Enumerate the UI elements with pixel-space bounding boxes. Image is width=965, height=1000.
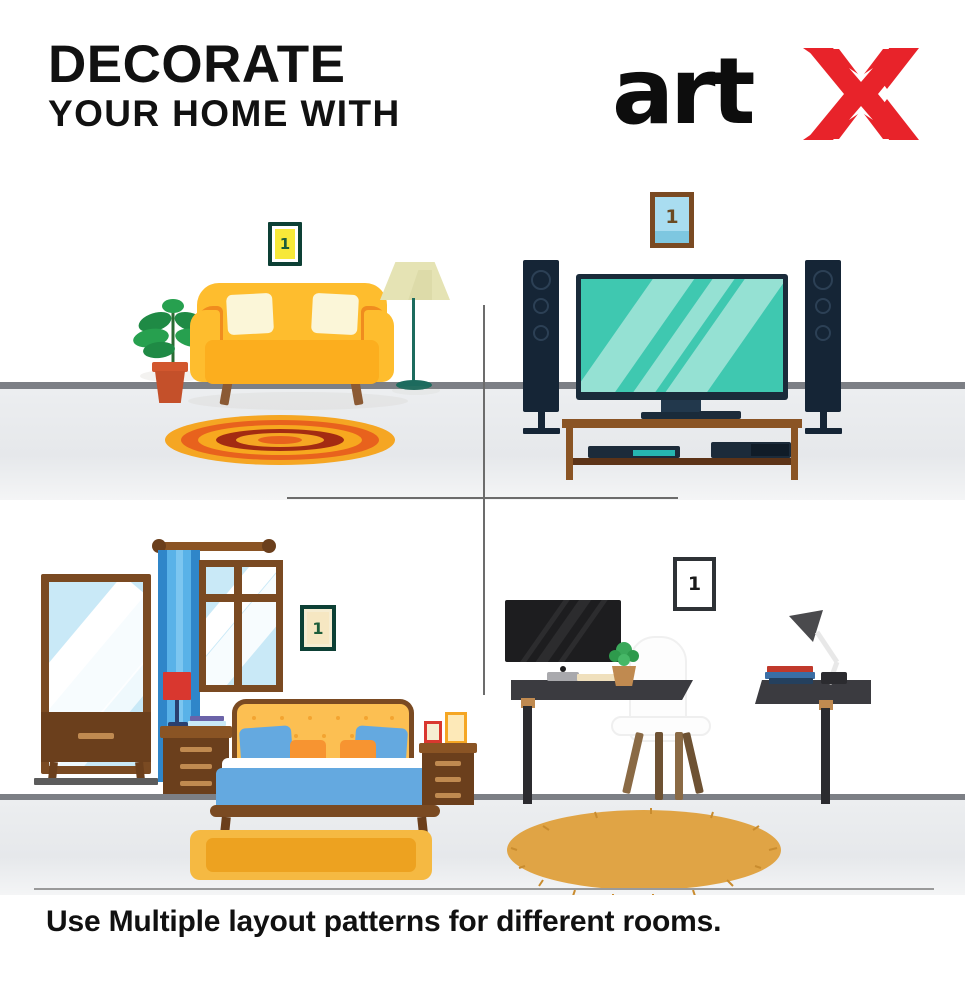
plant-pot — [612, 666, 636, 686]
bed-frame — [210, 805, 440, 817]
bottom-rule — [34, 888, 934, 890]
lamp-shade-red — [163, 672, 191, 700]
desk-top-left — [511, 680, 693, 700]
scene-home-office: 1 — [483, 500, 965, 895]
frame-number: 1 — [673, 557, 716, 611]
caption-text: Use Multiple layout patterns for differe… — [46, 905, 721, 939]
console-shelf — [573, 458, 791, 465]
plant-icon — [607, 638, 641, 670]
chair-leg — [655, 732, 663, 800]
tv-screen — [581, 279, 783, 392]
chair-leg — [675, 732, 683, 800]
drawer-handle — [78, 733, 114, 739]
monitor-screen — [505, 600, 621, 662]
scene-living-room: 1 — [0, 170, 483, 500]
desk-box — [821, 672, 847, 684]
sofa-seat — [205, 340, 379, 384]
desk-leg — [821, 708, 830, 804]
wall-frame-office[interactable]: 1 — [673, 557, 716, 611]
device-soundbar — [699, 411, 741, 419]
console-top — [562, 419, 802, 428]
headline-line-1: DECORATE — [48, 38, 401, 91]
lamp-pole — [412, 298, 415, 386]
scene-bedroom: 1 — [0, 500, 483, 895]
sofa-pillow-right — [311, 293, 359, 335]
headline-line-2: YOUR HOME WITH — [48, 95, 401, 132]
logo-x-icon — [797, 46, 925, 142]
frame-number: 1 — [268, 222, 302, 266]
sofa-pillow-left — [226, 293, 274, 335]
desk-leg — [523, 706, 532, 804]
poster-header: DECORATE YOUR HOME WITH art — [0, 0, 965, 170]
bed-blanket — [216, 768, 434, 810]
frame-number: 1 — [300, 605, 336, 651]
headline-block: DECORATE YOUR HOME WITH — [48, 38, 401, 132]
rug-fringe-icon — [501, 804, 791, 895]
book-navy — [769, 678, 813, 684]
scene-tv-room: 1 — [483, 170, 965, 500]
wall-frame-tv[interactable]: 1 — [650, 192, 694, 248]
nightstand-top — [160, 726, 232, 738]
divider-vertical — [483, 305, 485, 695]
frame-number: 1 — [650, 192, 694, 248]
wall-frame-bedroom[interactable]: 1 — [300, 605, 336, 651]
wall-frame-living[interactable]: 1 — [268, 222, 302, 266]
brand-logo: art — [612, 42, 922, 142]
pot-body — [155, 371, 185, 403]
monitor-stand — [547, 672, 579, 681]
divider-horizontal — [287, 497, 678, 499]
poster-root: DECORATE YOUR HOME WITH art 1 — [0, 0, 965, 1000]
logo-wordmark: art — [612, 42, 751, 142]
nightstand-top — [419, 743, 477, 753]
pot-rim — [152, 362, 188, 372]
